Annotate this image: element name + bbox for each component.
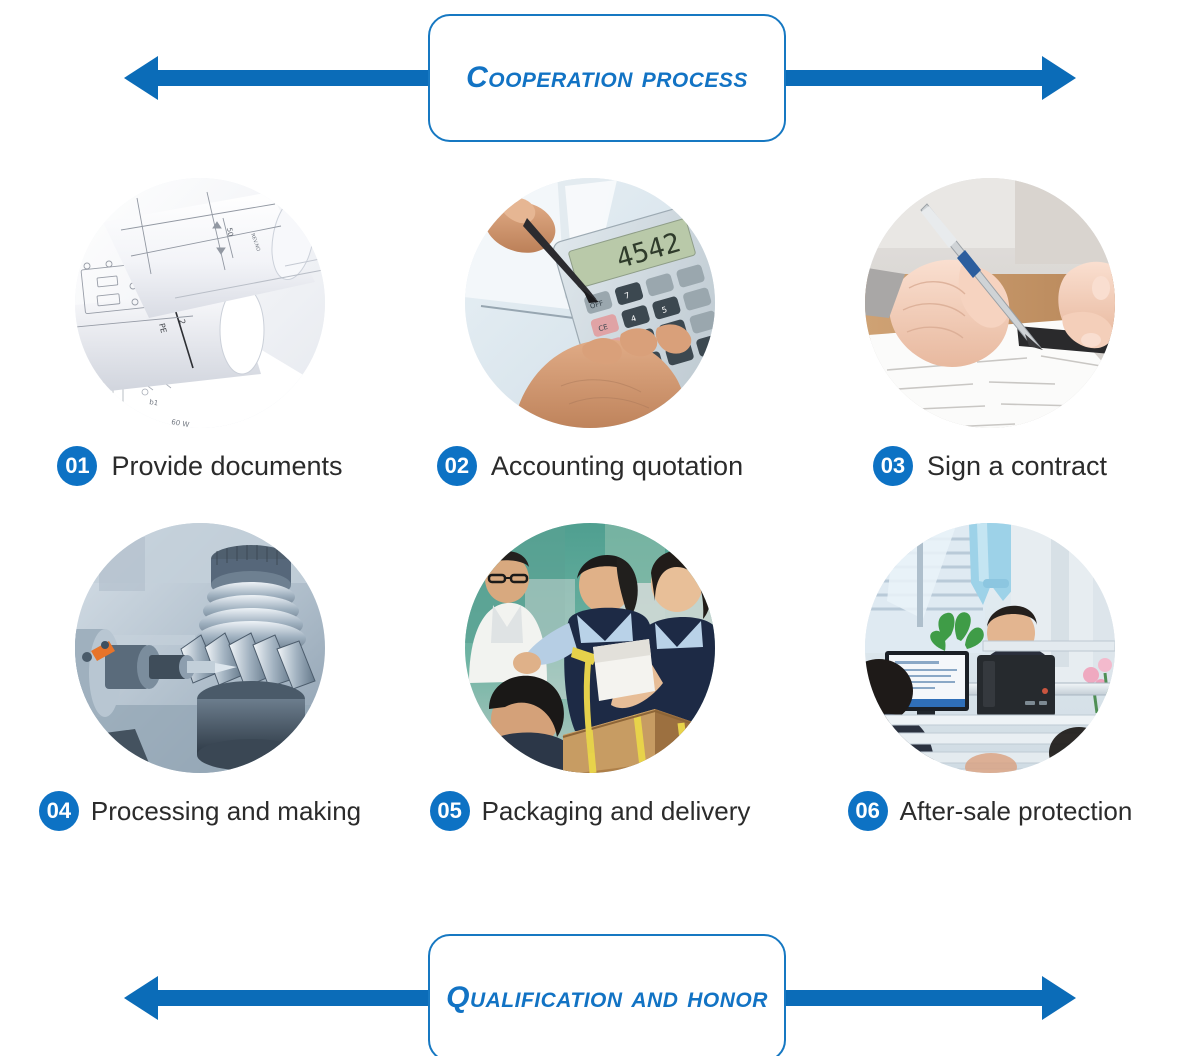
steps-row-1: b1 60 W [0,178,1200,508]
rolled-blueprints-photo: b1 60 W [75,178,325,428]
arrow-right-icon [1042,56,1076,100]
step-caption-05: 05 Packaging and delivery [390,791,790,831]
step-label-04: Processing and making [91,798,361,824]
steps-grid: b1 60 W [0,178,1200,868]
arrow-right-icon [1042,976,1076,1020]
cooperation-process-page: Cooperation process [0,0,1200,1056]
step-label-02: Accounting quotation [491,453,743,480]
steps-row-2: 04 Processing and making [0,523,1200,853]
bottom-banner-box: Qualification and honor [428,934,786,1056]
step-caption-03: 03 Sign a contract [790,446,1190,486]
step-badge-04: 04 [39,791,79,831]
svg-text:b1: b1 [149,398,159,407]
step-card-02[interactable]: 4542 [390,178,790,508]
signing-contract-photo [865,178,1115,428]
step-card-04[interactable]: 04 Processing and making [0,523,400,853]
svg-text:50: 50 [225,227,234,237]
step-label-05: Packaging and delivery [482,798,751,824]
step-card-06[interactable]: 06 After-sale protection [790,523,1190,853]
step-badge-03: 03 [873,446,913,486]
top-banner-title: Cooperation process [466,61,748,95]
step-badge-01: 01 [57,446,97,486]
office-support-photo [865,523,1115,773]
step-badge-06: 06 [848,791,888,831]
step-caption-01: 01 Provide documents [0,446,400,486]
step-label-01: Provide documents [111,453,342,480]
step-label-03: Sign a contract [927,453,1107,480]
step-badge-05: 05 [430,791,470,831]
step-caption-06: 06 After-sale protection [790,791,1190,831]
bottom-banner: Qualification and honor [0,928,1200,1056]
cnc-machining-photo [75,523,325,773]
arrow-left-icon [124,976,158,1020]
packaging-workers-photo [465,523,715,773]
top-banner: Cooperation process [0,8,1200,140]
step-card-03[interactable]: 03 Sign a contract [790,178,1190,508]
step-label-06: After-sale protection [900,798,1133,824]
step-card-01[interactable]: b1 60 W [0,178,400,508]
calculator-hands-photo: 4542 [465,178,715,428]
bottom-banner-title: Qualification and honor [446,981,768,1015]
step-caption-02: 02 Accounting quotation [390,446,790,486]
step-card-05[interactable]: 05 Packaging and delivery [390,523,790,853]
step-caption-04: 04 Processing and making [0,791,400,831]
arrow-left-icon [124,56,158,100]
step-badge-02: 02 [437,446,477,486]
top-banner-box: Cooperation process [428,14,786,142]
